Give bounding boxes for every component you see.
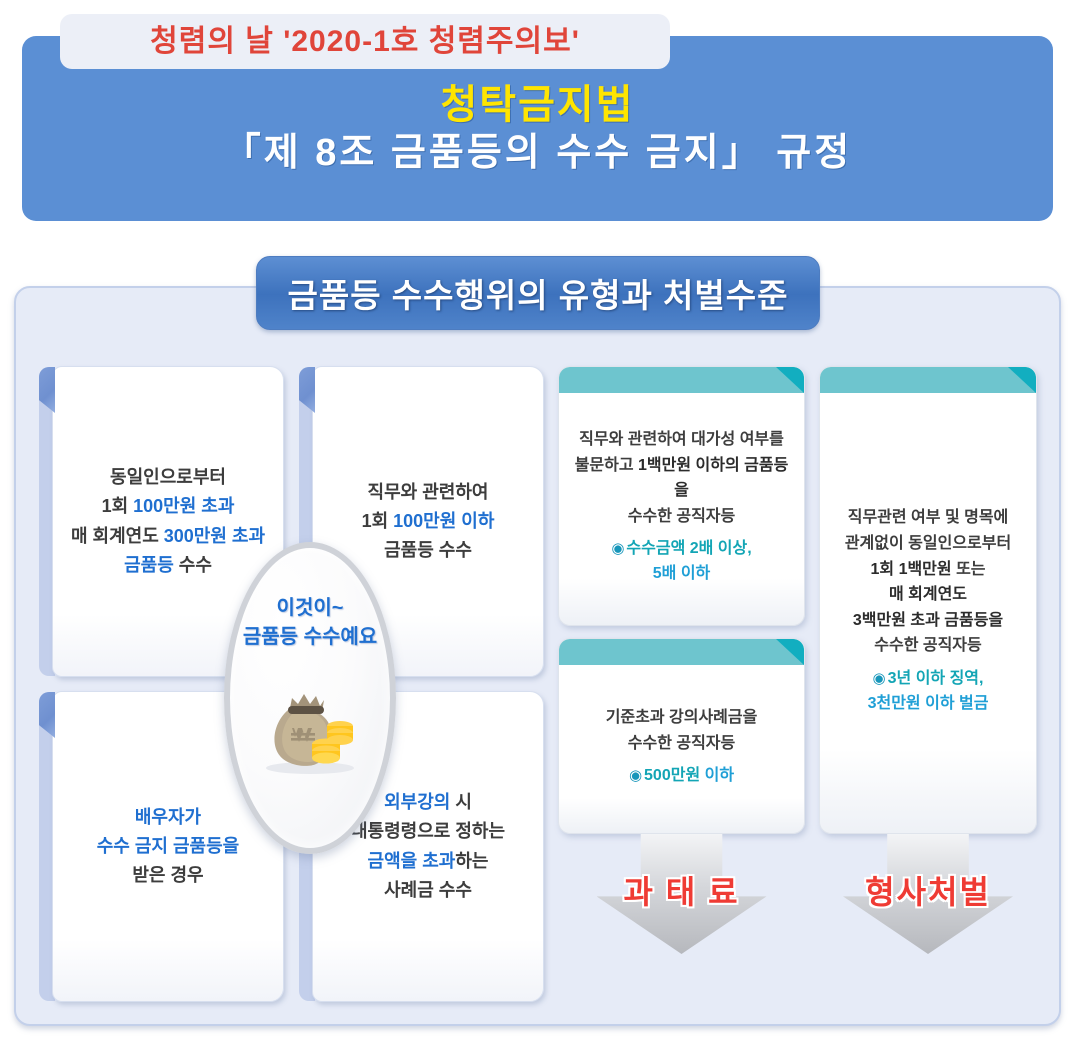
money-bag-coins-icon	[254, 668, 366, 781]
page-title: 청탁금지법 「제 8조 금품등의 수수 금지」 규정	[22, 82, 1053, 179]
penalty-text: ◉3년 이하 징역, 3천만원 이하 벌금	[868, 667, 989, 717]
conduct-type-group: 동일인으로부터 1회 100만원 초과 매 회계연도 300만원 초과 금품등 …	[38, 366, 544, 1002]
bullet-arrow-icon: ◉	[629, 767, 642, 784]
administrative-fine-column: 직무와 관련하여 대가성 여부를 불문하고 1백만원 이하의 금품등을 수수한 …	[558, 366, 805, 1002]
criminal-punishment-label: 형사처벌	[865, 867, 991, 913]
card-under-one-million-text: 직무와 관련하여 1회 100만원 이하 금품등 수수	[362, 478, 495, 565]
section-banner: 금품등 수수행위의 유형과 처벌수준	[256, 256, 820, 330]
card-fine-under-one-million: 직무와 관련하여 대가성 여부를 불문하고 1백만원 이하의 금품등을 수수한 …	[558, 366, 805, 626]
center-callout-text: 이것이~ 금품등 수수예요	[243, 594, 377, 652]
card-criminal-over-one-million-text: 직무관련 여부 및 명목에 관계없이 동일인으로부터 1회 1백만원 또는 매 …	[820, 393, 1036, 833]
teal-header-bar	[820, 367, 1036, 393]
criminal-punishment-arrow: 형사처벌	[819, 834, 1037, 954]
bullet-arrow-icon: ◉	[611, 540, 624, 557]
integrity-day-ribbon: 청렴의 날 '2020-1호 청렴주의보'	[60, 14, 670, 69]
center-callout-badge: 이것이~ 금품등 수수예요	[224, 542, 396, 854]
card-external-lecture-text: 외부강의 시 대통령령으로 정하는 금액을 초과하는 사례금 수수	[351, 788, 505, 905]
center-callout-line-1: 이것이~	[243, 594, 377, 623]
title-line-2: 「제 8조 금품등의 수수 금지」 규정	[22, 128, 1053, 179]
card-over-one-million-text: 동일인으로부터 1회 100만원 초과 매 회계연도 300만원 초과 금품등 …	[71, 463, 265, 580]
content-columns: 동일인으로부터 1회 100만원 초과 매 회계연도 300만원 초과 금품등 …	[14, 286, 1061, 1026]
penalty-text: ◉500만원 이하	[629, 764, 734, 789]
criminal-punishment-column: 직무관련 여부 및 명목에 관계없이 동일인으로부터 1회 1백만원 또는 매 …	[819, 366, 1037, 1002]
bullet-arrow-icon: ◉	[873, 670, 886, 687]
teal-header-bar	[559, 367, 804, 393]
card-description: 기준초과 강의사례금을 수수한 공직자등	[606, 705, 758, 756]
card-description: 직무관련 여부 및 명목에 관계없이 동일인으로부터 1회 1백만원 또는 매 …	[845, 505, 1011, 659]
administrative-fine-arrow: 과 태 료	[558, 834, 805, 954]
card-fine-excess-lecture-fee: 기준초과 강의사례금을 수수한 공직자등 ◉500만원 이하	[558, 638, 805, 834]
title-line-1: 청탁금지법	[22, 82, 1053, 128]
card-fine-excess-lecture-fee-text: 기준초과 강의사례금을 수수한 공직자등 ◉500만원 이하	[559, 665, 804, 833]
administrative-fine-label: 과 태 료	[623, 867, 739, 913]
teal-header-bar	[559, 639, 804, 665]
center-callout-line-2: 금품등 수수예요	[243, 623, 377, 652]
card-criminal-over-one-million: 직무관련 여부 및 명목에 관계없이 동일인으로부터 1회 1백만원 또는 매 …	[819, 366, 1037, 834]
card-fine-under-one-million-text: 직무와 관련하여 대가성 여부를 불문하고 1백만원 이하의 금품등을 수수한 …	[559, 393, 804, 625]
penalty-text: ◉수수금액 2배 이상, 5배 이하	[611, 537, 751, 587]
card-description: 직무와 관련하여 대가성 여부를 불문하고 1백만원 이하의 금품등을 수수한 …	[571, 427, 792, 529]
ribbon-label: 청렴의 날 '2020-1호 청렴주의보'	[150, 27, 580, 57]
section-banner-label: 금품등 수수행위의 유형과 처벌수준	[288, 269, 789, 317]
page-header: 청렴의 날 '2020-1호 청렴주의보' 청탁금지법 「제 8조 금품등의 수…	[22, 36, 1053, 221]
card-spouse-receipt-text: 배우자가 수수 금지 금품등을 받은 경우	[97, 803, 239, 890]
